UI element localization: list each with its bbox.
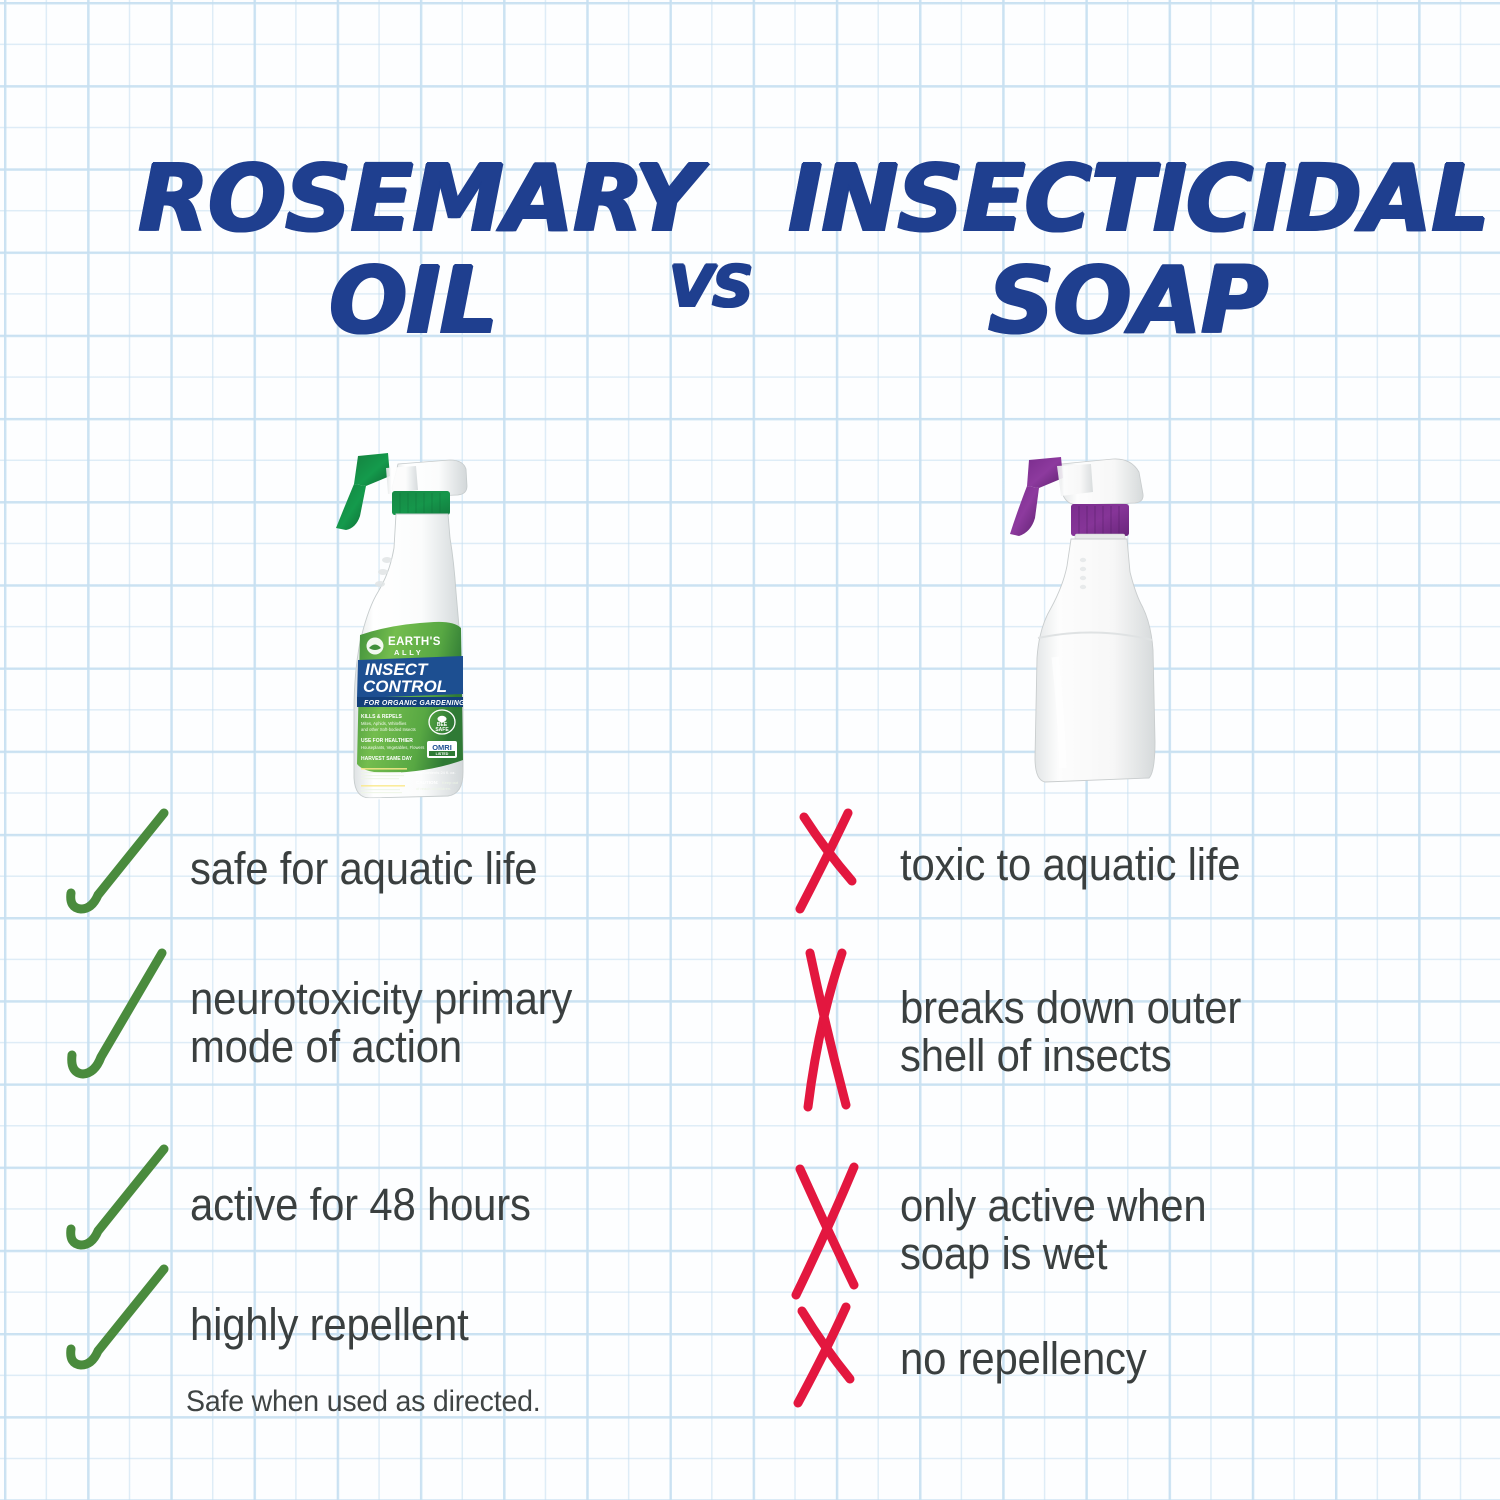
svg-text:SAFE: SAFE — [435, 727, 449, 733]
comparison-row: breaks down outer shell of insects — [782, 945, 1267, 1118]
label-caution-head: CAUTION: — [416, 780, 439, 785]
product-name-line2: CONTROL — [363, 677, 447, 696]
label-caution-body-a: Keep out — [442, 780, 459, 785]
title-left-line2: OIL — [329, 255, 497, 347]
product-tagline: FOR ORGANIC GARDENING — [364, 700, 465, 707]
label-caution-body-b: of reach of children. — [416, 786, 451, 791]
product-image-insecticidal-soap — [1005, 442, 1185, 812]
check-icon — [58, 1263, 190, 1386]
label-bullet3-head: HARVEST SAME DAY — [361, 756, 413, 762]
footnote-disclaimer: Safe when used as directed. — [186, 1385, 541, 1419]
label-net-contents: Net Contents 24 fl. oz. — [416, 770, 456, 775]
earths-ally-bottle-svg: EARTH'S ALLY INSECT CONTROL FOR ORGANIC … — [330, 442, 500, 812]
check-icon — [58, 1143, 190, 1266]
comparison-row: active for 48 hours — [58, 1143, 556, 1266]
label-bullet1-body-b: and other Soft-bodied Insects — [361, 727, 416, 732]
cross-icon — [782, 945, 900, 1118]
comparison-row-text: breaks down outer shell of insects — [900, 984, 1241, 1079]
label-bullet1-head: KILLS & REPELS — [361, 714, 403, 720]
omri-listed-badge: OMRI LISTED — [427, 741, 457, 758]
label-bullet2-head: USE FOR HEALTHIER — [361, 738, 413, 744]
product-image-rosemary-oil: EARTH'S ALLY INSECT CONTROL FOR ORGANIC … — [330, 442, 500, 812]
title-block: ROSEMARY OIL VS INSECTICIDAL SOAP — [0, 0, 1500, 390]
svg-text:OMRI: OMRI — [432, 743, 452, 752]
comparison-row-text: safe for aquatic life — [190, 845, 537, 893]
generic-soap-bottle-svg — [1005, 442, 1185, 812]
cross-icon — [782, 1301, 900, 1416]
title-right-line1: INSECTICIDAL — [788, 153, 1489, 245]
comparison-row: no repellency — [782, 1301, 1165, 1416]
comparison-row-text: active for 48 hours — [190, 1181, 531, 1229]
title-right-line2: SOAP — [988, 255, 1267, 347]
brand-name-line1: EARTH'S — [388, 636, 441, 648]
brand-name-line2: ALLY — [394, 648, 423, 657]
trigger-lever-tail — [1010, 486, 1039, 536]
comparison-section: safe for aquatic life neurotoxicity prim… — [0, 805, 1500, 1445]
label-bullet2-body: Houseplants, Vegetables, Flowers — [361, 745, 424, 750]
comparison-row-text: neurotoxicity primary mode of action — [190, 975, 572, 1070]
comparison-row-text: no repellency — [900, 1335, 1147, 1383]
comparison-row: neurotoxicity primary mode of action — [58, 945, 601, 1100]
comparison-row: highly repellent — [58, 1263, 490, 1386]
trigger-lever — [354, 453, 390, 486]
comparison-row-text: highly repellent — [190, 1301, 469, 1349]
comparison-row: only active when soap is wet — [782, 1143, 1230, 1316]
svg-text:LISTED: LISTED — [436, 752, 449, 756]
cross-icon — [782, 1143, 900, 1316]
cross-icon — [782, 807, 900, 922]
check-icon — [58, 945, 190, 1100]
title-versus: VS — [669, 259, 752, 316]
comparison-row: safe for aquatic life — [58, 807, 564, 930]
trigger-lever-tail — [336, 484, 366, 530]
title-left-line1: ROSEMARY — [138, 153, 700, 245]
comparison-row-text: only active when soap is wet — [900, 1182, 1206, 1277]
check-icon — [58, 807, 190, 930]
infographic-canvas: ROSEMARY OIL VS INSECTICIDAL SOAP — [0, 0, 1500, 1500]
label-bullet1-body-a: Mites, Aphids, Whiteflies — [361, 721, 406, 726]
trigger-lever — [1027, 457, 1063, 488]
comparison-row: toxic to aquatic life — [782, 807, 1266, 922]
comparison-row-text: toxic to aquatic life — [900, 841, 1240, 889]
